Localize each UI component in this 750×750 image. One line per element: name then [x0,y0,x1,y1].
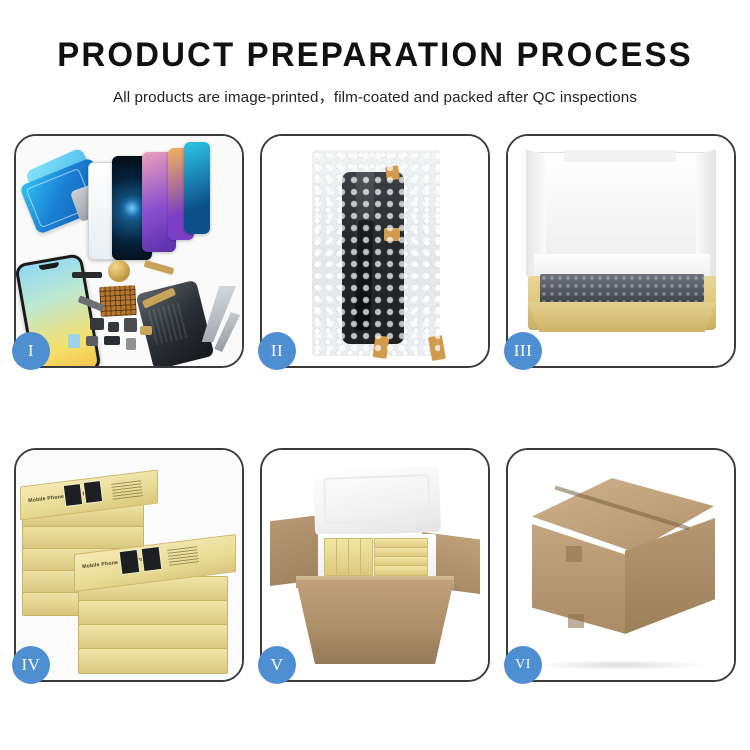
panel-4-image: Mobile Phone Spare Parts Mobile Phone Sp… [16,450,242,680]
box-art-screen-front-2 [141,546,163,572]
panel-6-image [508,450,734,680]
page-header: PRODUCT PREPARATION PROCESS All products… [0,0,750,107]
step-badge-1: I [12,332,50,370]
stack-box-right-3 [78,624,228,650]
stack-box-right-2 [78,600,228,626]
step-badge-5: V [258,646,296,684]
process-step-grid: I II [14,134,736,682]
carton-shadow [536,660,706,670]
step-badge-2: II [258,332,296,370]
small-part-1 [90,318,104,330]
page-title: PRODUCT PREPARATION PROCESS [11,38,739,74]
small-part-8 [68,334,80,348]
small-part-3 [124,318,137,332]
foam-lined-shipping-carton-scene [262,450,488,680]
small-part-6 [126,338,136,350]
box-art-screen-front-1 [119,549,141,575]
vibration-motor-part [108,260,130,282]
bubble-wrap-bag [312,150,440,356]
box-spec-text-front [167,544,199,566]
bubble-wrapped-screen-scene [262,136,488,366]
page-subtitle: All products are image-printed，film-coat… [0,85,750,107]
lid-top-edge [564,150,676,162]
step-badge-4: IV [12,646,50,684]
small-part-7 [140,326,152,335]
process-step-panel-5: V [260,448,490,682]
process-step-panel-3: III [506,134,736,368]
process-step-panel-6: VI [506,448,736,682]
flex-cable-3 [72,272,102,278]
stack-box-right-4 [78,648,228,674]
kraft-box-front-panel [528,302,716,332]
panel-1-image [16,136,242,366]
panel-5-image [262,450,488,680]
circuit-board-part [99,285,137,317]
small-part-2 [108,322,119,332]
bubble-wrapped-contents [540,274,704,304]
panel-3-image [508,136,734,366]
step-badge-3: III [504,332,542,370]
carton-tape-patch-2 [568,614,584,628]
carton-body [296,580,454,664]
stacked-spare-parts-boxes-scene: Mobile Phone Spare Parts Mobile Phone Sp… [16,450,242,680]
process-step-panel-1: I [14,134,244,368]
carton-tape-patch-1 [566,546,582,562]
packed-box-right-4 [374,565,428,576]
stack-box-left-2 [22,526,144,550]
box-stack: Mobile Phone Spare Parts Mobile Phone Sp… [18,468,242,672]
box-art-screen-rear-2 [83,480,104,504]
lcd-display-teal [184,142,210,234]
styrofoam-lid [313,466,441,536]
packed-box-left-4 [360,538,373,576]
box-art-screen-rear-1 [63,483,84,507]
process-step-panel-4: Mobile Phone Spare Parts Mobile Phone Sp… [14,448,244,682]
phone-screens-and-parts-scene [16,136,242,366]
sealed-shipping-carton-scene [508,450,734,680]
bubble-texture-front [312,150,440,356]
step-badge-6: VI [504,646,542,684]
product-preparation-process-page: PRODUCT PREPARATION PROCESS All products… [0,0,750,750]
small-part-4 [86,336,98,346]
process-step-panel-2: II [260,134,490,368]
panel-2-image [262,136,488,366]
small-part-5 [104,336,120,345]
box-spec-text-rear [111,478,143,500]
open-inner-box-scene [508,136,734,366]
screen-stack [88,148,208,263]
